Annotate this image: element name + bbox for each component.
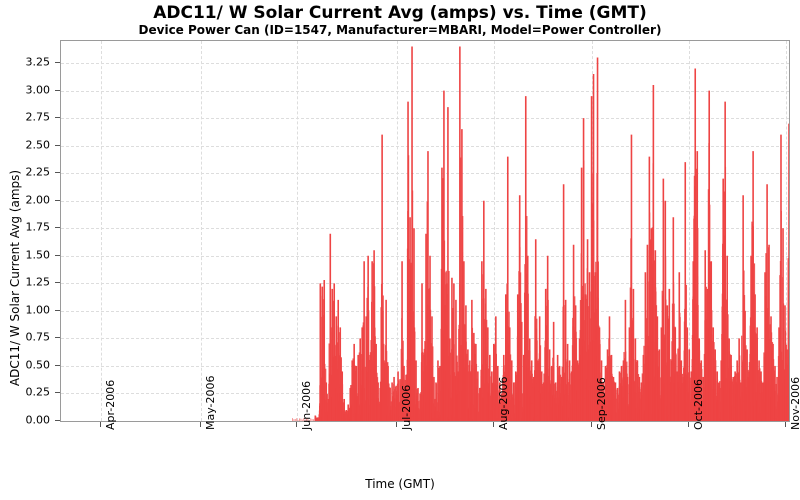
x-tick-mark	[785, 422, 786, 427]
x-tick-label: Oct-2006	[692, 379, 705, 430]
y-tick-label: 3.25	[26, 56, 51, 69]
y-tick-label: 1.00	[26, 303, 51, 316]
x-axis-title: Time (GMT)	[0, 477, 800, 491]
x-tick-label: May-2006	[204, 375, 217, 430]
x-tick-mark	[296, 422, 297, 427]
y-tick-label: 3.00	[26, 83, 51, 96]
x-tick-mark	[688, 422, 689, 427]
x-tick-label: Nov-2006	[789, 377, 800, 430]
x-tick-label: Apr-2006	[104, 380, 117, 430]
y-tick-label: 0.75	[26, 331, 51, 344]
x-tick-mark	[396, 422, 397, 427]
plot-area	[60, 40, 790, 422]
x-tick-mark	[100, 422, 101, 427]
y-tick-label: 2.75	[26, 111, 51, 124]
spike-plot	[61, 41, 789, 421]
y-axis: ADC11/ W Solar Current Avg (amps) 0.000.…	[0, 40, 56, 422]
x-tick-label: Aug-2006	[497, 377, 510, 430]
x-tick-label: Jul-2006	[400, 385, 413, 430]
x-tick-mark	[591, 422, 592, 427]
x-tick-mark	[493, 422, 494, 427]
chart-title: ADC11/ W Solar Current Avg (amps) vs. Ti…	[0, 3, 800, 23]
x-tick-label: Jun-2006	[300, 381, 313, 430]
x-tick-mark	[200, 422, 201, 427]
chart-container: ADC11/ W Solar Current Avg (amps) vs. Ti…	[0, 0, 800, 500]
x-axis: Apr-2006May-2006Jun-2006Jul-2006Aug-2006…	[0, 422, 800, 482]
y-tick-label: 1.25	[26, 276, 51, 289]
y-tick-label: 2.00	[26, 193, 51, 206]
x-tick-label: Sep-2006	[595, 377, 608, 430]
y-tick-label: 0.25	[26, 386, 51, 399]
chart-subtitle: Device Power Can (ID=1547, Manufacturer=…	[0, 23, 800, 37]
y-tick-label: 1.50	[26, 248, 51, 261]
y-tick-label: 2.25	[26, 166, 51, 179]
y-tick-label: 2.50	[26, 138, 51, 151]
data-series-solar-current	[61, 41, 789, 421]
y-tick-label: 1.75	[26, 221, 51, 234]
y-tick-label: 0.50	[26, 358, 51, 371]
y-axis-title: ADC11/ W Solar Current Avg (amps)	[8, 113, 22, 443]
